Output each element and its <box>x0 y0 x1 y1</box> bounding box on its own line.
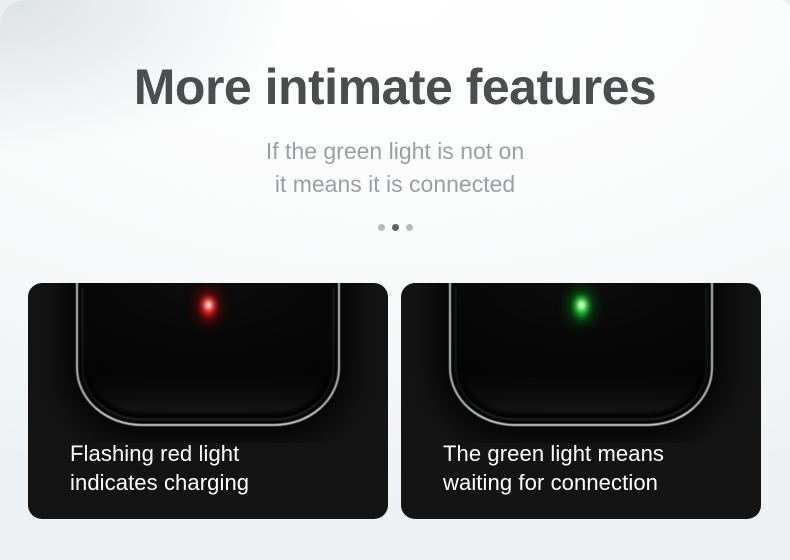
feature-card-list: Flashing red light indicates charging <box>28 283 762 519</box>
page-subtitle: If the green light is not on it means it… <box>0 135 790 202</box>
led-core <box>205 301 211 309</box>
subtitle-line-1: If the green light is not on <box>0 135 790 168</box>
feature-card-waiting-connection[interactable]: The green light means waiting for connec… <box>401 283 761 519</box>
caption-line-1: Flashing red light <box>70 439 370 468</box>
device-photo-waiting <box>401 283 761 443</box>
green-indicator-led <box>573 295 590 325</box>
caption-line-2: indicates charging <box>70 468 370 497</box>
device-body <box>453 283 709 423</box>
pagination-dot-3[interactable] <box>406 224 413 231</box>
promo-page: More intimate features If the green ligh… <box>0 0 790 560</box>
card-caption-waiting-connection: The green light means waiting for connec… <box>443 439 743 497</box>
card-caption-charging: Flashing red light indicates charging <box>70 439 370 497</box>
pagination-dot-1[interactable] <box>378 224 385 231</box>
red-indicator-led <box>200 295 217 325</box>
feature-card-charging[interactable]: Flashing red light indicates charging <box>28 283 388 519</box>
caption-line-1: The green light means <box>443 439 743 468</box>
device-body <box>80 283 336 423</box>
caption-line-2: waiting for connection <box>443 468 743 497</box>
subtitle-line-2: it means it is connected <box>0 168 790 201</box>
page-title: More intimate features <box>0 60 790 115</box>
device-photo-charging <box>28 283 388 443</box>
pagination-dot-2[interactable] <box>392 224 399 231</box>
led-core <box>578 301 584 309</box>
header-section: More intimate features If the green ligh… <box>0 0 790 231</box>
carousel-pagination[interactable] <box>0 224 790 231</box>
